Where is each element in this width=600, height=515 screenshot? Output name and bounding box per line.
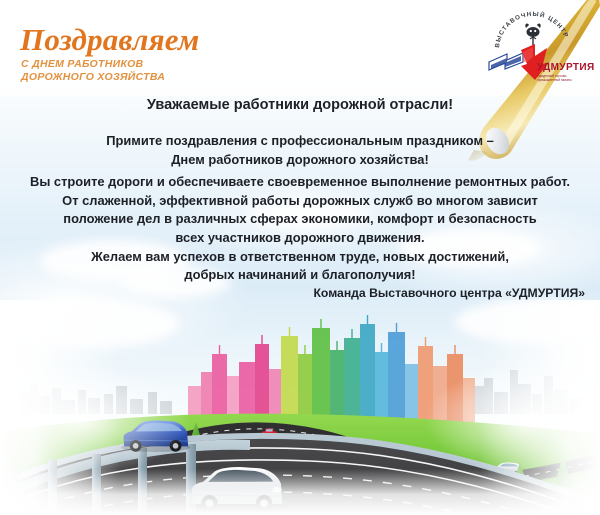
greeting-line: положение дел в различных сферах экономи… (0, 210, 600, 229)
building-antenna (320, 319, 321, 328)
building-antenna (289, 327, 290, 336)
skyline-building (212, 354, 227, 424)
building-antenna (381, 343, 382, 352)
logo-tagline: Удмуртский торгово- промышленной палаты (537, 74, 591, 82)
greeting-body: Примите поздравления с профессиональным … (0, 132, 600, 285)
skyline-building (388, 332, 405, 424)
skyline-building (405, 364, 418, 424)
skyline-building (298, 354, 312, 424)
logo-name: УДМУРТИЯ (537, 62, 595, 73)
skyline-building (281, 336, 298, 424)
page-subtitle: С ДНЕМ РАБОТНИКОВ ДОРОЖНОГО ХОЗЯЙСТВА (21, 58, 165, 83)
building-antenna (261, 335, 262, 344)
building-antenna (425, 337, 426, 346)
building-antenna (304, 345, 305, 354)
skyline-building (360, 324, 375, 424)
greeting-line: добрых начинаний и благополучия! (0, 266, 600, 285)
skyline-building (312, 328, 330, 424)
skyline-building (375, 352, 388, 424)
greeting-line: Примите поздравления с профессиональным … (0, 132, 600, 151)
page-title: Поздравляем (20, 22, 199, 58)
building-antenna (454, 345, 455, 354)
building-antenna (367, 315, 368, 324)
greeting-line: Днем работников дорожного хозяйства! (0, 151, 600, 170)
skyline-building (255, 344, 269, 424)
building-antenna (351, 329, 352, 338)
skyline-building (344, 338, 360, 424)
skyline-building (330, 350, 344, 424)
greeting-headline: Уважаемые работники дорожной отрасли! (0, 97, 600, 113)
signature-line: Команда Выставочного центра «УДМУРТИЯ» (0, 286, 585, 300)
greeting-line: Вы строите дороги и обеспечиваете своевр… (0, 173, 600, 192)
greeting-card: Поздравляем С ДНЕМ РАБОТНИКОВ ДОРОЖНОГО … (0, 0, 600, 515)
greeting-line: всех участников дорожного движения. (0, 229, 600, 248)
building-antenna (396, 323, 397, 332)
building-antenna (336, 341, 337, 350)
udmurtia-logo: ВЫСТАВОЧНЫЙ ЦЕНТР УДМУРТИЯ Удмуртский то… (487, 8, 591, 94)
greeting-line: От слаженной, эффективной работы дорожны… (0, 192, 600, 211)
building-antenna (219, 345, 220, 354)
road-illustration (0, 300, 600, 515)
greeting-line: Желаем вам успехов в ответственном труде… (0, 248, 600, 267)
